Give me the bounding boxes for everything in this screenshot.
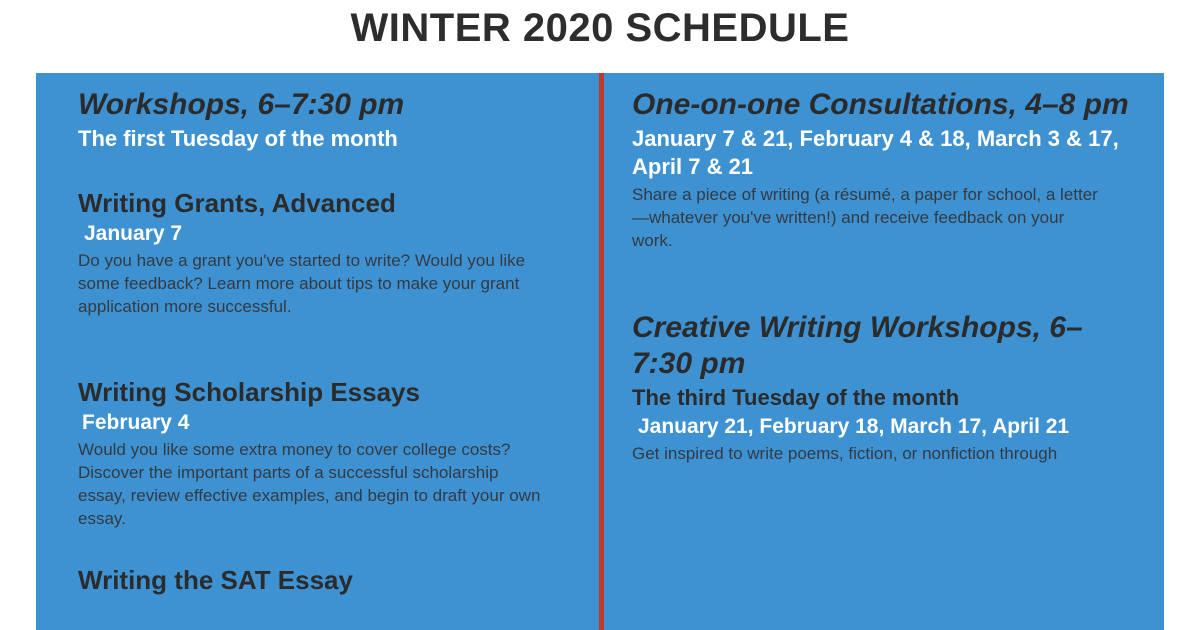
event-description: Would you like some extra money to cover… (78, 438, 548, 530)
schedule-poster: WINTER 2020 SCHEDULE Workshops, 6–7:30 p… (0, 0, 1200, 630)
consultations-description: Share a piece of writing (a résumé, a pa… (632, 183, 1102, 252)
page-title: WINTER 2020 SCHEDULE (0, 2, 1200, 54)
list-item: Writing Scholarship Essays February 4 Wo… (78, 376, 570, 530)
spacer (78, 530, 570, 564)
creative-writing-subtitle: The third Tuesday of the month (632, 384, 1130, 412)
spacer (78, 318, 570, 376)
event-description: Do you have a grant you've started to wr… (78, 249, 548, 318)
event-title: Writing the SAT Essay (78, 564, 570, 596)
workshops-section-title: Workshops, 6–7:30 pm (78, 87, 570, 123)
list-item: Creative Writing Workshops, 6–7:30 pm Th… (632, 310, 1130, 465)
list-item: Writing the SAT Essay (78, 564, 570, 596)
creative-writing-description: Get inspired to write poems, fiction, or… (632, 442, 1102, 465)
consultations-column: One-on-one Consultations, 4–8 pm January… (600, 73, 1164, 630)
event-title: Writing Scholarship Essays (78, 376, 570, 408)
event-date: January 7 (78, 220, 570, 247)
consultations-dates: January 7 & 21, February 4 & 18, March 3… (632, 125, 1130, 181)
creative-writing-dates: January 21, February 18, March 17, April… (632, 413, 1130, 440)
list-item: Writing Grants, Advanced January 7 Do yo… (78, 187, 570, 318)
creative-writing-section-title: Creative Writing Workshops, 6–7:30 pm (632, 310, 1130, 382)
event-date: February 4 (78, 409, 570, 436)
workshops-section-subtitle: The first Tuesday of the month (78, 125, 570, 153)
list-item: One-on-one Consultations, 4–8 pm January… (632, 87, 1130, 252)
spacer (78, 153, 570, 187)
schedule-panel: Workshops, 6–7:30 pm The first Tuesday o… (36, 73, 1164, 630)
event-title: Writing Grants, Advanced (78, 187, 570, 219)
spacer (632, 252, 1130, 310)
consultations-section-title: One-on-one Consultations, 4–8 pm (632, 87, 1130, 123)
column-divider (599, 73, 604, 630)
workshops-column: Workshops, 6–7:30 pm The first Tuesday o… (36, 73, 600, 630)
